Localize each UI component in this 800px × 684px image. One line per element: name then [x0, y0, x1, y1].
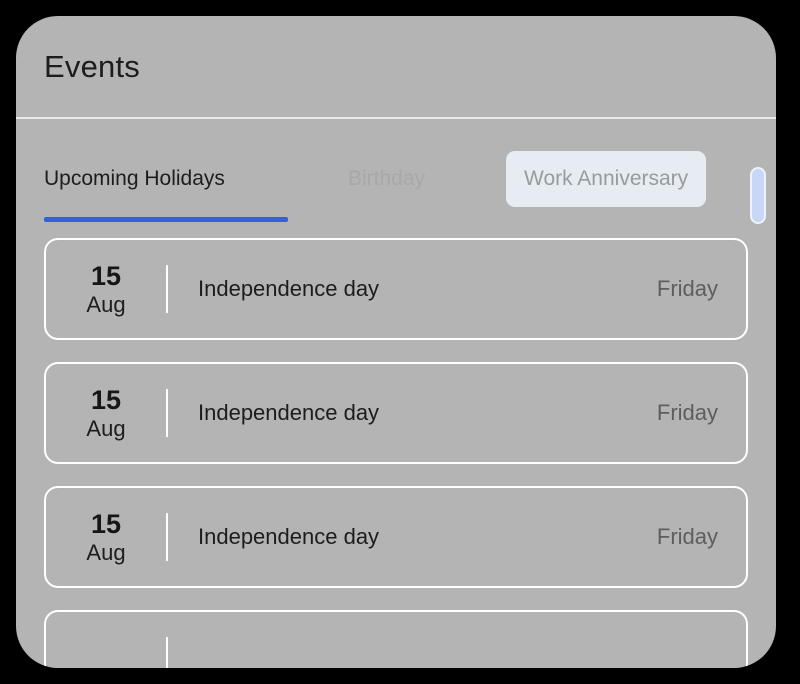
event-day: 15: [91, 386, 121, 414]
event-weekday: Friday: [657, 524, 746, 550]
event-title: Independence day: [168, 276, 657, 302]
event-title: Independence day: [168, 524, 657, 550]
tab-active-indicator: [44, 217, 288, 222]
event-day: 15: [91, 510, 121, 538]
event-date: 15 Aug: [46, 386, 166, 439]
event-month: Aug: [86, 293, 125, 316]
event-date: 15 Aug: [46, 262, 166, 315]
event-weekday: Friday: [657, 400, 746, 426]
tab-upcoming-holidays[interactable]: Upcoming Holidays: [44, 159, 225, 199]
event-date: 15 Aug: [46, 510, 166, 563]
event-day: 15: [91, 262, 121, 290]
event-date: [46, 660, 166, 662]
table-row[interactable]: 15 Aug Independence day Friday: [44, 238, 748, 340]
tab-scrollbar-thumb[interactable]: [750, 167, 766, 224]
event-month: Aug: [86, 417, 125, 440]
tab-strip: Upcoming Holidays Birthday Work Annivers…: [16, 119, 776, 234]
card-header: Events: [16, 16, 776, 117]
event-title: Independence day: [168, 400, 657, 426]
events-card: Events Upcoming Holidays Birthday Work A…: [16, 16, 776, 668]
table-row[interactable]: 15 Aug Independence day Friday: [44, 362, 748, 464]
tab-work-anniversary[interactable]: Work Anniversary: [506, 151, 706, 207]
event-list: 15 Aug Independence day Friday 15 Aug In…: [16, 238, 776, 668]
screen: Events Upcoming Holidays Birthday Work A…: [0, 0, 800, 684]
table-row[interactable]: 15 Aug Independence day Friday: [44, 486, 748, 588]
page-title: Events: [44, 49, 140, 85]
table-row[interactable]: [44, 610, 748, 668]
tab-birthday[interactable]: Birthday: [348, 159, 425, 199]
row-divider: [166, 637, 168, 668]
event-month: Aug: [86, 541, 125, 564]
event-weekday: Friday: [657, 276, 746, 302]
